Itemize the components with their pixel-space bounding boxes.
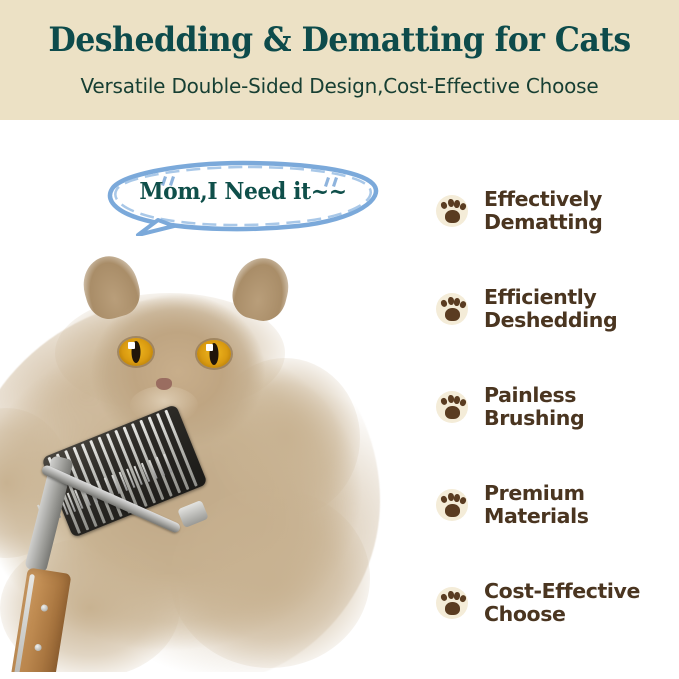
feature-line-2: Materials	[484, 505, 589, 528]
page-title: Deshedding & Dematting for Cats	[24, 20, 655, 60]
eye-glint	[128, 342, 135, 349]
feature-label: Efficiently Deshedding	[484, 286, 617, 333]
paw-icon	[436, 293, 468, 325]
feature-line-1: Premium	[484, 482, 589, 505]
feature-item-brushing: Painless Brushing	[436, 370, 679, 444]
feature-line-1: Efficiently	[484, 286, 617, 309]
feature-line-2: Dematting	[484, 211, 602, 234]
tool-knob	[177, 500, 209, 528]
feature-line-1: Cost-Effective	[484, 580, 640, 603]
cat-nose	[156, 378, 172, 390]
paw-icon	[436, 195, 468, 227]
feature-label: Painless Brushing	[484, 384, 584, 431]
paw-icon	[436, 489, 468, 521]
cat-eye-left	[119, 338, 153, 366]
page-subtitle: Versatile Double-Sided Design,Cost-Effec…	[0, 74, 679, 98]
speech-bubble-text: Mom,I Need it~~	[105, 178, 381, 205]
feature-item-deshedding: Efficiently Deshedding	[436, 272, 679, 346]
feature-label: Premium Materials	[484, 482, 589, 529]
feature-item-materials: Premium Materials	[436, 468, 679, 542]
paw-icon	[436, 391, 468, 423]
grooming-tool-image	[22, 420, 222, 672]
product-infographic: Deshedding & Dematting for Cats Versatil…	[0, 0, 679, 679]
feature-line-2: Choose	[484, 603, 640, 626]
paw-icon	[436, 587, 468, 619]
eye-glint	[206, 344, 213, 351]
feature-line-1: Effectively	[484, 188, 602, 211]
feature-label: Cost-Effective Choose	[484, 580, 640, 627]
speech-bubble: Mom,I Need it~~	[98, 158, 388, 236]
cat-eye-right	[197, 340, 231, 368]
feature-item-dematting: Effectively Dematting	[436, 174, 679, 248]
feature-line-2: Brushing	[484, 407, 584, 430]
feature-item-cost-effective: Cost-Effective Choose	[436, 566, 679, 640]
header-band	[0, 0, 679, 120]
feature-label: Effectively Dematting	[484, 188, 602, 235]
feature-line-1: Painless	[484, 384, 584, 407]
feature-line-2: Deshedding	[484, 309, 617, 332]
feature-list: Effectively Dematting Efficiently Deshed…	[436, 170, 679, 630]
